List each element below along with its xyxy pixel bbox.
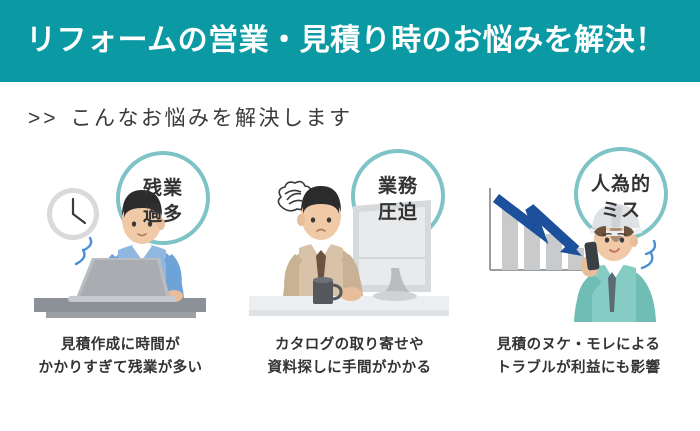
badge-label-line1: 人為的 bbox=[591, 172, 651, 195]
illustration-worker-on-phone-with-declining-chart: 人為的 ミス bbox=[464, 146, 693, 322]
header-banner: リフォームの営業・見積り時のお悩みを解決！ bbox=[0, 0, 700, 82]
badge-label-line2: 圧迫 bbox=[378, 200, 418, 223]
subtitle-row: >> こんなお悩みを解決します bbox=[0, 102, 700, 132]
panel-caption: 見積作成に時間が かかりすぎて残業が多い bbox=[39, 334, 203, 380]
problem-panels: 残業 過多 見積作成に時間が かかりすぎて残業が多い bbox=[0, 146, 700, 380]
double-chevron-icon: >> bbox=[28, 107, 59, 131]
caption-line-1: 見積作成に時間が bbox=[39, 334, 203, 357]
badge-label-line2: ミス bbox=[601, 200, 641, 221]
caption-line-1: カタログの取り寄せや bbox=[268, 334, 432, 357]
panel-caption: 見積のヌケ・モレによる トラブルが利益にも影響 bbox=[497, 334, 661, 380]
page-title: リフォームの営業・見積り時のお悩みを解決！ bbox=[26, 26, 666, 56]
badge-label-line2: 過多 bbox=[143, 202, 183, 225]
worker-body bbox=[574, 255, 656, 322]
laptop bbox=[68, 258, 176, 302]
sweat-marks bbox=[642, 241, 655, 268]
subtitle-text: こんなお悩みを解決します bbox=[71, 102, 353, 132]
illustration-man-at-laptop-with-clock: 残業 過多 bbox=[6, 146, 235, 322]
badge-label-line1: 業務 bbox=[377, 174, 418, 197]
caption-line-2: 資料探しに手間がかかる bbox=[268, 357, 432, 380]
declining-bar-chart bbox=[490, 188, 588, 270]
sweat-marks bbox=[76, 238, 91, 264]
caption-line-2: トラブルが利益にも影響 bbox=[497, 357, 661, 380]
panel-workload: 業務 圧迫 カタログの取り寄せや 資料探しに手間がかかる bbox=[235, 146, 464, 380]
badge-label-line1: 残業 bbox=[143, 176, 183, 199]
panel-overtime: 残業 過多 見積作成に時間が かかりすぎて残業が多い bbox=[6, 146, 235, 380]
panel-human-error: 人為的 ミス 見積のヌケ・モレによる トラブルが利益にも影響 bbox=[464, 146, 693, 380]
panel-caption: カタログの取り寄せや 資料探しに手間がかかる bbox=[268, 334, 432, 380]
illustration-man-at-desktop-monitor-with-mug: 業務 圧迫 bbox=[235, 146, 464, 322]
clock-icon bbox=[47, 188, 99, 240]
caption-line-1: 見積のヌケ・モレによる bbox=[497, 334, 661, 357]
person-head bbox=[297, 186, 341, 240]
caption-line-2: かかりすぎて残業が多い bbox=[39, 357, 203, 380]
